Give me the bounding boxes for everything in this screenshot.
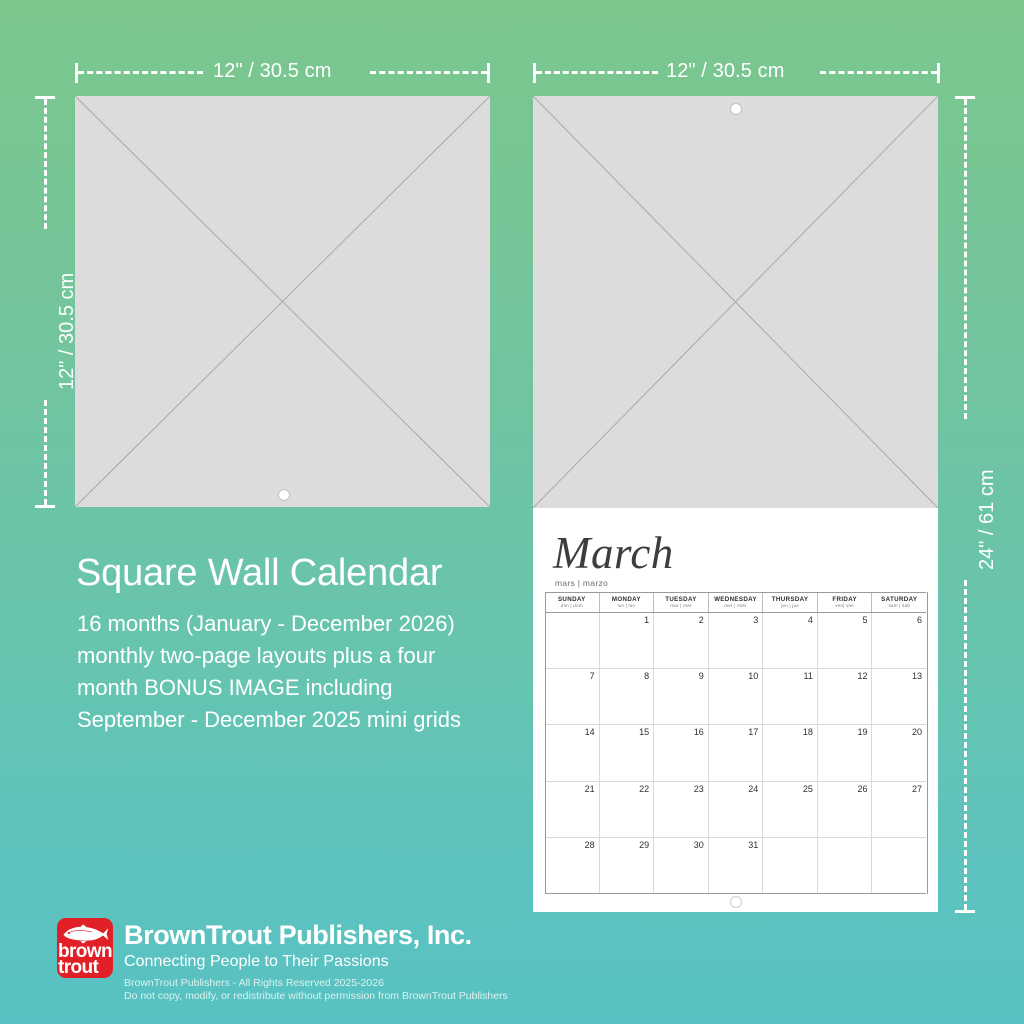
day-number: 24 — [748, 784, 758, 794]
day-header-saturday: SATURDAYsam | sáb — [871, 593, 926, 612]
calendar-image-page-placeholder — [533, 96, 938, 508]
product-spec-sheet: March mars | marzo SUNDAYdim | domMONDAY… — [0, 0, 1024, 1024]
day-header-name: MONDAY — [612, 596, 641, 603]
day-number: 27 — [912, 784, 922, 794]
day-header-wednesday: WEDNESDAYmer | miér — [708, 593, 763, 612]
day-header-name: WEDNESDAY — [714, 596, 757, 603]
day-header-alt: lun | lun — [617, 603, 635, 609]
day-header-alt: mar | mar — [670, 603, 691, 609]
calendar-grid: SUNDAYdim | domMONDAYlun | lunTUESDAYmar… — [545, 592, 926, 894]
day-number: 28 — [585, 840, 595, 850]
day-number: 7 — [590, 671, 595, 681]
day-number: 21 — [585, 784, 595, 794]
hole-punch-right-panel-bottom — [730, 896, 742, 908]
calendar-day-cell-24[interactable]: 24 — [708, 782, 763, 837]
day-number: 6 — [917, 615, 922, 625]
calendar-day-cell-empty[interactable] — [817, 838, 872, 893]
calendar-day-cell-empty[interactable] — [762, 838, 817, 893]
day-number: 3 — [753, 615, 758, 625]
calendar-day-cell-12[interactable]: 12 — [817, 669, 872, 724]
calendar-day-cell-empty[interactable] — [545, 613, 599, 668]
calendar-day-cell-28[interactable]: 28 — [545, 838, 599, 893]
calendar-day-cell-14[interactable]: 14 — [545, 725, 599, 780]
calendar-day-cell-8[interactable]: 8 — [599, 669, 654, 724]
day-number: 18 — [803, 727, 813, 737]
day-number: 14 — [585, 727, 595, 737]
placeholder-cross-icon — [75, 96, 490, 507]
calendar-week-row: 123456 — [545, 613, 926, 669]
day-number: 26 — [857, 784, 867, 794]
dimension-right-top-label: 12" / 30.5 cm — [666, 60, 784, 83]
day-number: 4 — [808, 615, 813, 625]
day-number: 5 — [862, 615, 867, 625]
calendar-cover-placeholder — [75, 96, 490, 507]
calendar-day-cell-29[interactable]: 29 — [599, 838, 654, 893]
day-number: 13 — [912, 671, 922, 681]
calendar-week-row: 28293031 — [545, 838, 926, 894]
day-number: 17 — [748, 727, 758, 737]
day-number: 29 — [639, 840, 649, 850]
day-number: 31 — [748, 840, 758, 850]
logo-word-trout: trout — [58, 959, 98, 976]
company-name: BrownTrout Publishers, Inc. — [124, 920, 508, 951]
product-description: 16 months (January - December 2026)month… — [77, 608, 527, 736]
day-number: 30 — [694, 840, 704, 850]
day-number: 15 — [639, 727, 649, 737]
calendar-day-cell-15[interactable]: 15 — [599, 725, 654, 780]
day-header-name: THURSDAY — [772, 596, 809, 603]
day-number: 22 — [639, 784, 649, 794]
day-header-name: TUESDAY — [665, 596, 696, 603]
day-header-thursday: THURSDAYjeu | jue — [762, 593, 817, 612]
day-number: 23 — [694, 784, 704, 794]
legal-line-1: BrownTrout Publishers - All Rights Reser… — [124, 977, 508, 990]
calendar-day-cell-5[interactable]: 5 — [817, 613, 872, 668]
calendar-day-cell-17[interactable]: 17 — [708, 725, 763, 780]
day-number: 12 — [857, 671, 867, 681]
calendar-day-cell-19[interactable]: 19 — [817, 725, 872, 780]
calendar-day-cell-3[interactable]: 3 — [708, 613, 763, 668]
calendar-week-row: 21222324252627 — [545, 782, 926, 838]
calendar-day-header-row: SUNDAYdim | domMONDAYlun | lunTUESDAYmar… — [545, 592, 926, 613]
company-tagline: Connecting People to Their Passions — [124, 951, 508, 972]
calendar-month-title: March — [553, 531, 674, 576]
footer: brown trout BrownTrout Publishers, Inc. … — [57, 918, 508, 1003]
day-header-alt: dim | dom — [561, 603, 583, 609]
calendar-day-cell-10[interactable]: 10 — [708, 669, 763, 724]
day-header-sunday: SUNDAYdim | dom — [545, 593, 599, 612]
day-number: 9 — [699, 671, 704, 681]
calendar-week-row: 14151617181920 — [545, 725, 926, 781]
calendar-day-cell-22[interactable]: 22 — [599, 782, 654, 837]
day-header-alt: sam | sáb — [888, 603, 910, 609]
day-header-name: SATURDAY — [881, 596, 917, 603]
dimension-right-side-label: 24" / 61 cm — [976, 470, 999, 570]
day-header-name: FRIDAY — [832, 596, 857, 603]
day-header-alt: mer | miér — [724, 603, 747, 609]
hole-punch-left-panel — [278, 489, 290, 501]
calendar-day-cell-25[interactable]: 25 — [762, 782, 817, 837]
calendar-grid-page: March mars | marzo SUNDAYdim | domMONDAY… — [533, 508, 938, 912]
calendar-day-cell-7[interactable]: 7 — [545, 669, 599, 724]
calendar-day-cell-27[interactable]: 27 — [871, 782, 926, 837]
day-number: 1 — [644, 615, 649, 625]
calendar-day-cell-31[interactable]: 31 — [708, 838, 763, 893]
page-title: Square Wall Calendar — [76, 552, 442, 595]
day-number: 19 — [857, 727, 867, 737]
calendar-day-cell-16[interactable]: 16 — [653, 725, 708, 780]
calendar-month-subtitle: mars | marzo — [555, 578, 608, 588]
calendar-day-cell-empty[interactable] — [871, 838, 926, 893]
calendar-day-cell-20[interactable]: 20 — [871, 725, 926, 780]
day-number: 16 — [694, 727, 704, 737]
calendar-week-rows: 1234567891011121314151617181920212223242… — [545, 613, 926, 894]
calendar-day-cell-1[interactable]: 1 — [599, 613, 654, 668]
calendar-day-cell-23[interactable]: 23 — [653, 782, 708, 837]
calendar-day-cell-18[interactable]: 18 — [762, 725, 817, 780]
calendar-day-cell-2[interactable]: 2 — [653, 613, 708, 668]
description-line-4: September - December 2025 mini grids — [77, 704, 527, 736]
calendar-week-row: 78910111213 — [545, 669, 926, 725]
calendar-day-cell-6[interactable]: 6 — [871, 613, 926, 668]
placeholder-cross-icon — [533, 96, 938, 508]
day-header-friday: FRIDAYven| vier — [817, 593, 872, 612]
calendar-day-cell-26[interactable]: 26 — [817, 782, 872, 837]
calendar-day-cell-11[interactable]: 11 — [762, 669, 817, 724]
dimension-left-top-label: 12" / 30.5 cm — [213, 60, 331, 83]
day-number: 20 — [912, 727, 922, 737]
day-header-alt: jeu | jue — [781, 603, 799, 609]
browntrout-logo: brown trout — [57, 918, 113, 978]
description-line-3: month BONUS IMAGE including — [77, 672, 527, 704]
day-header-monday: MONDAYlun | lun — [599, 593, 654, 612]
day-number: 8 — [644, 671, 649, 681]
day-header-tuesday: TUESDAYmar | mar — [653, 593, 708, 612]
legal-line-2: Do not copy, modify, or redistribute wit… — [124, 990, 508, 1003]
calendar-day-cell-4[interactable]: 4 — [762, 613, 817, 668]
calendar-day-cell-21[interactable]: 21 — [545, 782, 599, 837]
calendar-day-cell-30[interactable]: 30 — [653, 838, 708, 893]
dimension-left-side-label: 12" / 30.5 cm — [56, 273, 79, 390]
calendar-day-cell-13[interactable]: 13 — [871, 669, 926, 724]
day-number: 2 — [699, 615, 704, 625]
day-number: 10 — [748, 671, 758, 681]
day-number: 25 — [803, 784, 813, 794]
calendar-day-cell-9[interactable]: 9 — [653, 669, 708, 724]
hole-punch-right-panel-top — [730, 103, 742, 115]
description-line-1: 16 months (January - December 2026) — [77, 608, 527, 640]
day-header-name: SUNDAY — [558, 596, 586, 603]
day-header-alt: ven| vier — [835, 603, 854, 609]
day-number: 11 — [804, 671, 813, 681]
description-line-2: monthly two-page layouts plus a four — [77, 640, 527, 672]
